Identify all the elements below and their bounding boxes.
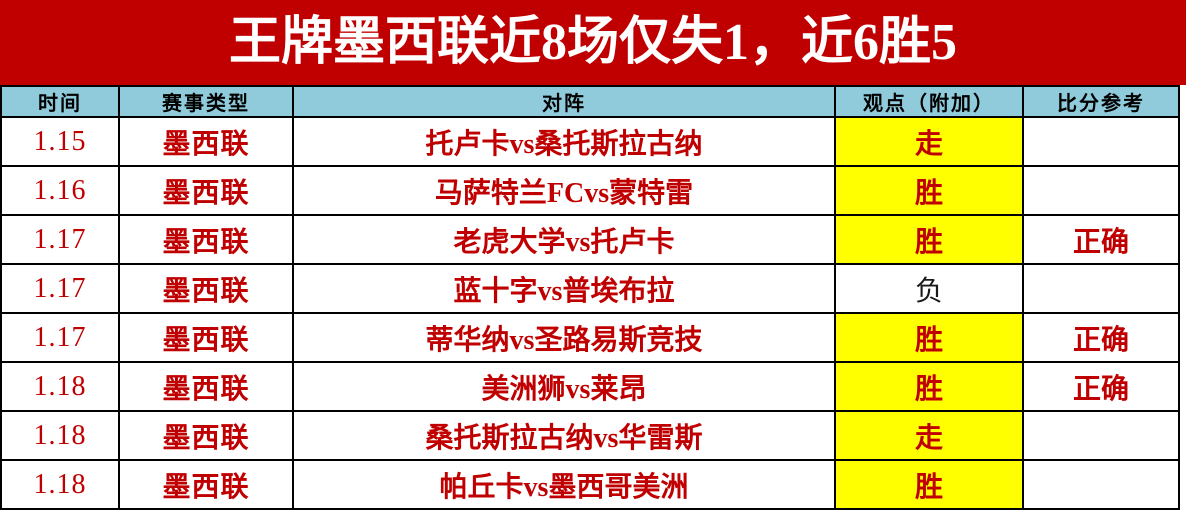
cell-view: 负 bbox=[835, 264, 1023, 313]
cell-match: 托卢卡vs桑托斯拉古纳 bbox=[293, 117, 835, 166]
cell-time: 1.18 bbox=[1, 460, 119, 509]
cell-view: 胜 bbox=[835, 313, 1023, 362]
table-row: 1.17墨西联蒂华纳vs圣路易斯竞技胜正确 bbox=[1, 313, 1179, 362]
cell-league: 墨西联 bbox=[119, 166, 293, 215]
column-header-match: 对阵 bbox=[293, 86, 835, 117]
table-row: 1.16墨西联马萨特兰FCvs蒙特雷胜 bbox=[1, 166, 1179, 215]
cell-score: 正确 bbox=[1023, 362, 1179, 411]
table-body: 1.15墨西联托卢卡vs桑托斯拉古纳走1.16墨西联马萨特兰FCvs蒙特雷胜1.… bbox=[1, 117, 1179, 509]
cell-league: 墨西联 bbox=[119, 117, 293, 166]
cell-time: 1.15 bbox=[1, 117, 119, 166]
cell-league: 墨西联 bbox=[119, 411, 293, 460]
cell-score: 正确 bbox=[1023, 313, 1179, 362]
table-header: 时间 赛事类型 对阵 观点（附加） 比分参考 bbox=[1, 86, 1179, 117]
cell-league: 墨西联 bbox=[119, 460, 293, 509]
cell-score bbox=[1023, 264, 1179, 313]
table-row: 1.18墨西联桑托斯拉古纳vs华雷斯走 bbox=[1, 411, 1179, 460]
column-header-view: 观点（附加） bbox=[835, 86, 1023, 117]
cell-time: 1.18 bbox=[1, 362, 119, 411]
table-row: 1.15墨西联托卢卡vs桑托斯拉古纳走 bbox=[1, 117, 1179, 166]
header-row: 时间 赛事类型 对阵 观点（附加） 比分参考 bbox=[1, 86, 1179, 117]
cell-view: 胜 bbox=[835, 362, 1023, 411]
cell-league: 墨西联 bbox=[119, 362, 293, 411]
column-header-league: 赛事类型 bbox=[119, 86, 293, 117]
cell-score bbox=[1023, 166, 1179, 215]
cell-match: 老虎大学vs托卢卡 bbox=[293, 215, 835, 264]
cell-match: 马萨特兰FCvs蒙特雷 bbox=[293, 166, 835, 215]
table-row: 1.17墨西联蓝十字vs普埃布拉负 bbox=[1, 264, 1179, 313]
cell-match: 蒂华纳vs圣路易斯竞技 bbox=[293, 313, 835, 362]
cell-match: 帕丘卡vs墨西哥美洲 bbox=[293, 460, 835, 509]
cell-league: 墨西联 bbox=[119, 313, 293, 362]
cell-view: 胜 bbox=[835, 460, 1023, 509]
cell-view: 胜 bbox=[835, 215, 1023, 264]
cell-view: 胜 bbox=[835, 166, 1023, 215]
cell-league: 墨西联 bbox=[119, 215, 293, 264]
title-banner: 王牌墨西联近8场仅失1，近6胜5 bbox=[0, 0, 1186, 85]
cell-time: 1.17 bbox=[1, 313, 119, 362]
table-row: 1.17墨西联老虎大学vs托卢卡胜正确 bbox=[1, 215, 1179, 264]
cell-match: 蓝十字vs普埃布拉 bbox=[293, 264, 835, 313]
cell-time: 1.18 bbox=[1, 411, 119, 460]
table-row: 1.18墨西联美洲狮vs莱昂胜正确 bbox=[1, 362, 1179, 411]
cell-score bbox=[1023, 411, 1179, 460]
cell-score bbox=[1023, 117, 1179, 166]
cell-time: 1.17 bbox=[1, 264, 119, 313]
column-header-time: 时间 bbox=[1, 86, 119, 117]
match-prediction-table: 时间 赛事类型 对阵 观点（附加） 比分参考 1.15墨西联托卢卡vs桑托斯拉古… bbox=[0, 85, 1180, 510]
prediction-sheet: 王牌墨西联近8场仅失1，近6胜5 时间 赛事类型 对阵 观点（附加） 比分参考 … bbox=[0, 0, 1186, 492]
cell-score bbox=[1023, 460, 1179, 509]
cell-time: 1.16 bbox=[1, 166, 119, 215]
cell-league: 墨西联 bbox=[119, 264, 293, 313]
cell-match: 美洲狮vs莱昂 bbox=[293, 362, 835, 411]
cell-view: 走 bbox=[835, 411, 1023, 460]
table-row: 1.18墨西联帕丘卡vs墨西哥美洲胜 bbox=[1, 460, 1179, 509]
page-title: 王牌墨西联近8场仅失1，近6胜5 bbox=[229, 17, 957, 69]
cell-score: 正确 bbox=[1023, 215, 1179, 264]
cell-time: 1.17 bbox=[1, 215, 119, 264]
cell-match: 桑托斯拉古纳vs华雷斯 bbox=[293, 411, 835, 460]
column-header-score: 比分参考 bbox=[1023, 86, 1179, 117]
cell-view: 走 bbox=[835, 117, 1023, 166]
